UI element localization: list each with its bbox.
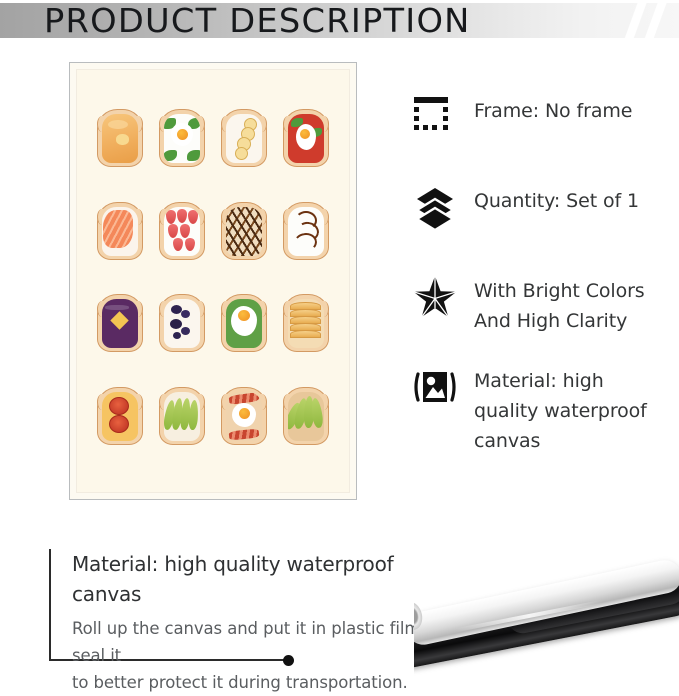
feature-quality: With Bright Colors And High Clarity — [404, 272, 672, 362]
feature-quantity: Quantity: Set of 1 — [404, 182, 672, 272]
feature-label: Material: high quality waterproof canvas — [474, 362, 672, 456]
toast-item — [277, 281, 335, 366]
bottom-body-line-2: to better protect it during transportati… — [72, 669, 442, 696]
toast-item — [215, 281, 273, 366]
poster-preview[interactable] — [69, 62, 357, 500]
toast-item — [153, 96, 211, 181]
bottom-body-line-1: Roll up the canvas and put it in plastic… — [72, 615, 442, 669]
toast-item — [277, 374, 335, 459]
toast-item — [153, 281, 211, 366]
feature-label: With Bright Colors And High Clarity — [474, 272, 672, 336]
poster-canvas — [76, 69, 350, 493]
bottom-title: Material: high quality waterproof canvas — [72, 549, 442, 609]
slash-1 — [622, 3, 648, 38]
layers-icon — [412, 184, 458, 230]
page-title: PRODUCT DESCRIPTION — [44, 2, 471, 39]
rolled-canvas-photo — [414, 552, 679, 679]
toast-item — [153, 374, 211, 459]
toast-item — [277, 189, 335, 274]
picture-icon — [412, 364, 458, 410]
toast-item — [91, 96, 149, 181]
feature-label: Quantity: Set of 1 — [474, 182, 672, 216]
toast-item — [153, 189, 211, 274]
toast-item — [91, 189, 149, 274]
header-banner: PRODUCT DESCRIPTION — [0, 3, 679, 38]
frame-icon — [412, 94, 458, 140]
toast-varieties-grid — [91, 96, 335, 458]
star-icon — [412, 274, 458, 320]
toast-item — [91, 281, 149, 366]
toast-item — [91, 374, 149, 459]
bracket-vertical-line — [49, 549, 51, 661]
slash-2 — [642, 3, 668, 38]
toast-item — [215, 96, 273, 181]
bottom-text-block: Material: high quality waterproof canvas… — [72, 549, 442, 696]
feature-material: Material: high quality waterproof canvas — [404, 362, 672, 456]
product-description-page: PRODUCT DESCRIPTION — [0, 0, 679, 679]
feature-frame: Frame: No frame — [404, 92, 672, 182]
header-slash-decoration — [616, 3, 670, 38]
toast-item — [277, 96, 335, 181]
toast-item — [215, 189, 273, 274]
feature-list: Frame: No frame Quantity: Set of 1 — [404, 92, 672, 456]
toast-item — [215, 374, 273, 459]
feature-label: Frame: No frame — [474, 92, 672, 126]
